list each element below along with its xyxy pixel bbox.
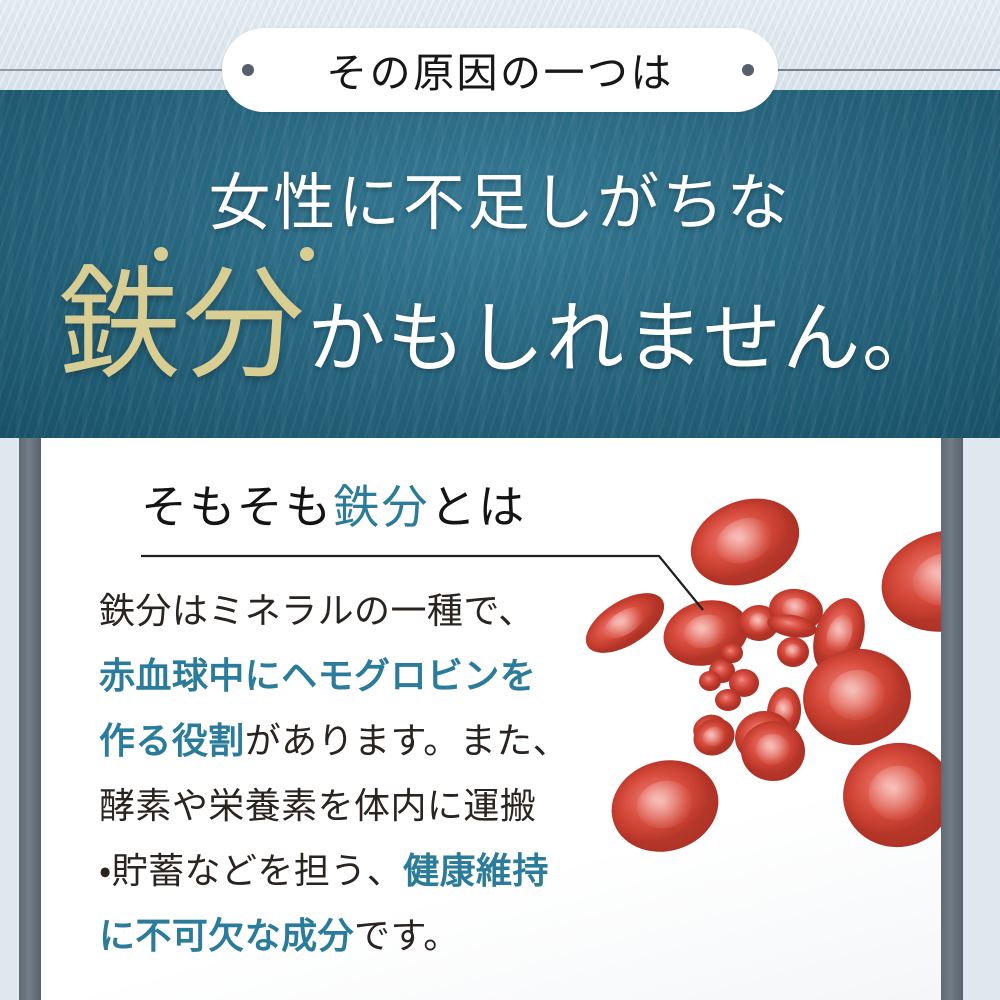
blood-cell	[741, 721, 805, 781]
card-body-highlight: 作る役割	[99, 720, 245, 761]
card-title-prefix: そもそも	[141, 482, 333, 533]
hero-heading-tail: かもしれません。	[307, 300, 941, 378]
headline-badge-label: その原因の一つは	[326, 39, 674, 99]
card-body-plain: です。	[354, 915, 460, 956]
hero-subheading: 女性に不足しがちな	[0, 152, 1000, 242]
blood-cell	[872, 518, 941, 643]
headline-badge: その原因の一つは	[222, 28, 778, 112]
content-card: そもそも鉄分とは 鉄分はミネラルの一種で、赤血球中にヘモグロビンを作る役割があり…	[41, 438, 941, 1000]
blood-cell	[601, 748, 730, 864]
card-body-line: ・貯蓄などを担う、健康維持	[99, 838, 619, 903]
title-divider-icon	[99, 548, 719, 623]
card-body-plain: 酵素や栄養素を体内に運搬	[99, 785, 536, 826]
card-body-highlight: に不可欠な成分	[99, 915, 354, 956]
card-body-line: 酵素や栄養素を体内に運搬	[99, 773, 619, 838]
card-body-plain: があります。また、	[245, 720, 569, 761]
card-body-line: 作る役割があります。また、	[99, 708, 619, 773]
page-root: その原因の一つは 女性に不足しがちな 鉄分 かもしれません。 そもそも鉄分とは …	[0, 0, 1000, 1000]
card-body-line: に不可欠な成分です。	[99, 903, 619, 968]
card-frame-left	[19, 438, 41, 1000]
hero-heading: 鉄分 かもしれません。	[0, 260, 1000, 382]
hero-keyword: 鉄分	[58, 266, 307, 388]
rule-dot-right-icon	[742, 64, 754, 76]
card-body: 鉄分はミネラルの一種で、赤血球中にヘモグロビンを作る役割があります。また、酵素や…	[99, 578, 619, 968]
blood-cell	[715, 689, 741, 711]
rule-dot-left-icon	[242, 64, 254, 76]
card-body-highlight: 赤血球中にヘモグロビンを	[99, 655, 536, 696]
card-title-suffix: とは	[430, 482, 527, 533]
card-body-highlight: 健康維持	[403, 850, 549, 891]
emphasis-dot-icon	[300, 247, 314, 261]
blood-cell	[687, 712, 740, 762]
blood-cell	[721, 643, 743, 663]
card-frame-right	[941, 438, 963, 1000]
emphasis-dot-icon	[154, 247, 168, 261]
card-title-keyword: 鉄分	[333, 482, 430, 533]
blood-cell	[699, 671, 721, 691]
card-body-line: 赤血球中にヘモグロビンを	[99, 643, 619, 708]
card-body-plain: ・貯蓄などを担う、	[99, 850, 403, 891]
card-title: そもそも鉄分とは	[141, 471, 527, 537]
blood-cell	[835, 734, 941, 856]
blood-cell	[777, 637, 809, 667]
